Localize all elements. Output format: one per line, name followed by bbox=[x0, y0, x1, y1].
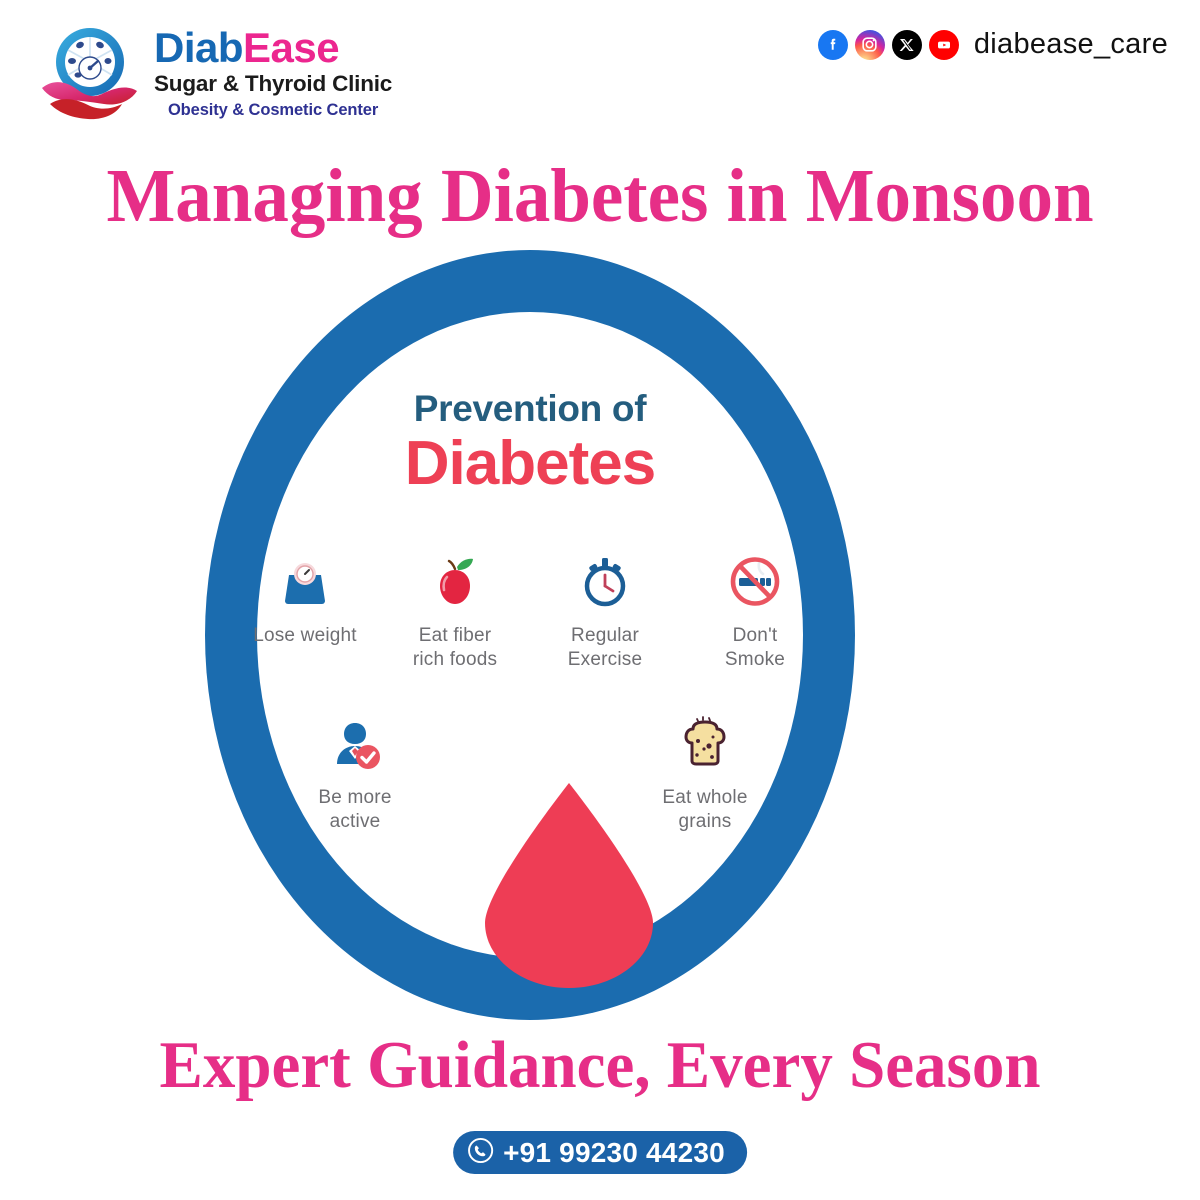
tip-label: Regular Exercise bbox=[568, 624, 642, 672]
infographic-heading-line1: Prevention of bbox=[205, 390, 855, 429]
stopwatch-icon bbox=[574, 550, 636, 612]
diabease-logo-icon bbox=[38, 20, 140, 124]
weight-scale-icon bbox=[274, 550, 336, 612]
tip-label: Eat fiber rich foods bbox=[413, 624, 497, 672]
tip-be-more-active: Be more active bbox=[280, 712, 430, 834]
social-links: diabease_care bbox=[818, 28, 1168, 61]
brand-name-part1: Diab bbox=[154, 24, 243, 71]
brand-name: DiabEase bbox=[154, 27, 392, 69]
bread-slice-icon bbox=[674, 712, 736, 774]
blood-drop-icon bbox=[485, 783, 653, 988]
tip-label: Eat whole grains bbox=[662, 786, 747, 834]
instagram-icon[interactable] bbox=[855, 30, 885, 60]
active-person-check-icon bbox=[324, 712, 386, 774]
page-title: Managing Diabetes in Monsoon bbox=[24, 158, 1176, 234]
brand-text: DiabEase Sugar & Thyroid Clinic Obesity … bbox=[154, 23, 392, 121]
brand-subtitle-primary: Sugar & Thyroid Clinic bbox=[154, 70, 392, 98]
social-handle[interactable]: diabease_care bbox=[974, 28, 1168, 61]
youtube-icon[interactable] bbox=[929, 30, 959, 60]
brand-name-part2: Ease bbox=[243, 24, 339, 71]
tip-label: Lose weight bbox=[253, 624, 357, 648]
header: DiabEase Sugar & Thyroid Clinic Obesity … bbox=[0, 0, 1200, 140]
tip-dont-smoke: Don't Smoke bbox=[680, 550, 830, 672]
facebook-icon[interactable] bbox=[818, 30, 848, 60]
tip-lose-weight: Lose weight bbox=[230, 550, 380, 672]
tip-regular-exercise: Regular Exercise bbox=[530, 550, 680, 672]
phone-contact-button[interactable]: +91 99230 44230 bbox=[453, 1131, 747, 1174]
no-smoking-icon bbox=[724, 550, 786, 612]
infographic-heading: Prevention of Diabetes bbox=[205, 390, 855, 496]
poster-canvas: DiabEase Sugar & Thyroid Clinic Obesity … bbox=[0, 0, 1200, 1200]
tip-eat-fiber: Eat fiber rich foods bbox=[380, 550, 530, 672]
x-twitter-icon[interactable] bbox=[892, 30, 922, 60]
phone-number: +91 99230 44230 bbox=[503, 1137, 725, 1169]
brand-subtitle-secondary: Obesity & Cosmetic Center bbox=[154, 100, 392, 121]
prevention-tips-row-1: Lose weight Eat fiber rich foods bbox=[205, 550, 855, 672]
apple-icon bbox=[424, 550, 486, 612]
infographic-heading-line2: Diabetes bbox=[205, 431, 855, 496]
phone-circle-icon bbox=[467, 1137, 494, 1169]
tagline: Expert Guidance, Every Season bbox=[18, 1032, 1182, 1099]
tip-label: Don't Smoke bbox=[725, 624, 785, 672]
brand-lockup: DiabEase Sugar & Thyroid Clinic Obesity … bbox=[38, 20, 392, 124]
tip-label: Be more active bbox=[318, 786, 391, 834]
prevention-infographic: Prevention of Diabetes Lose weight bbox=[205, 250, 855, 1020]
